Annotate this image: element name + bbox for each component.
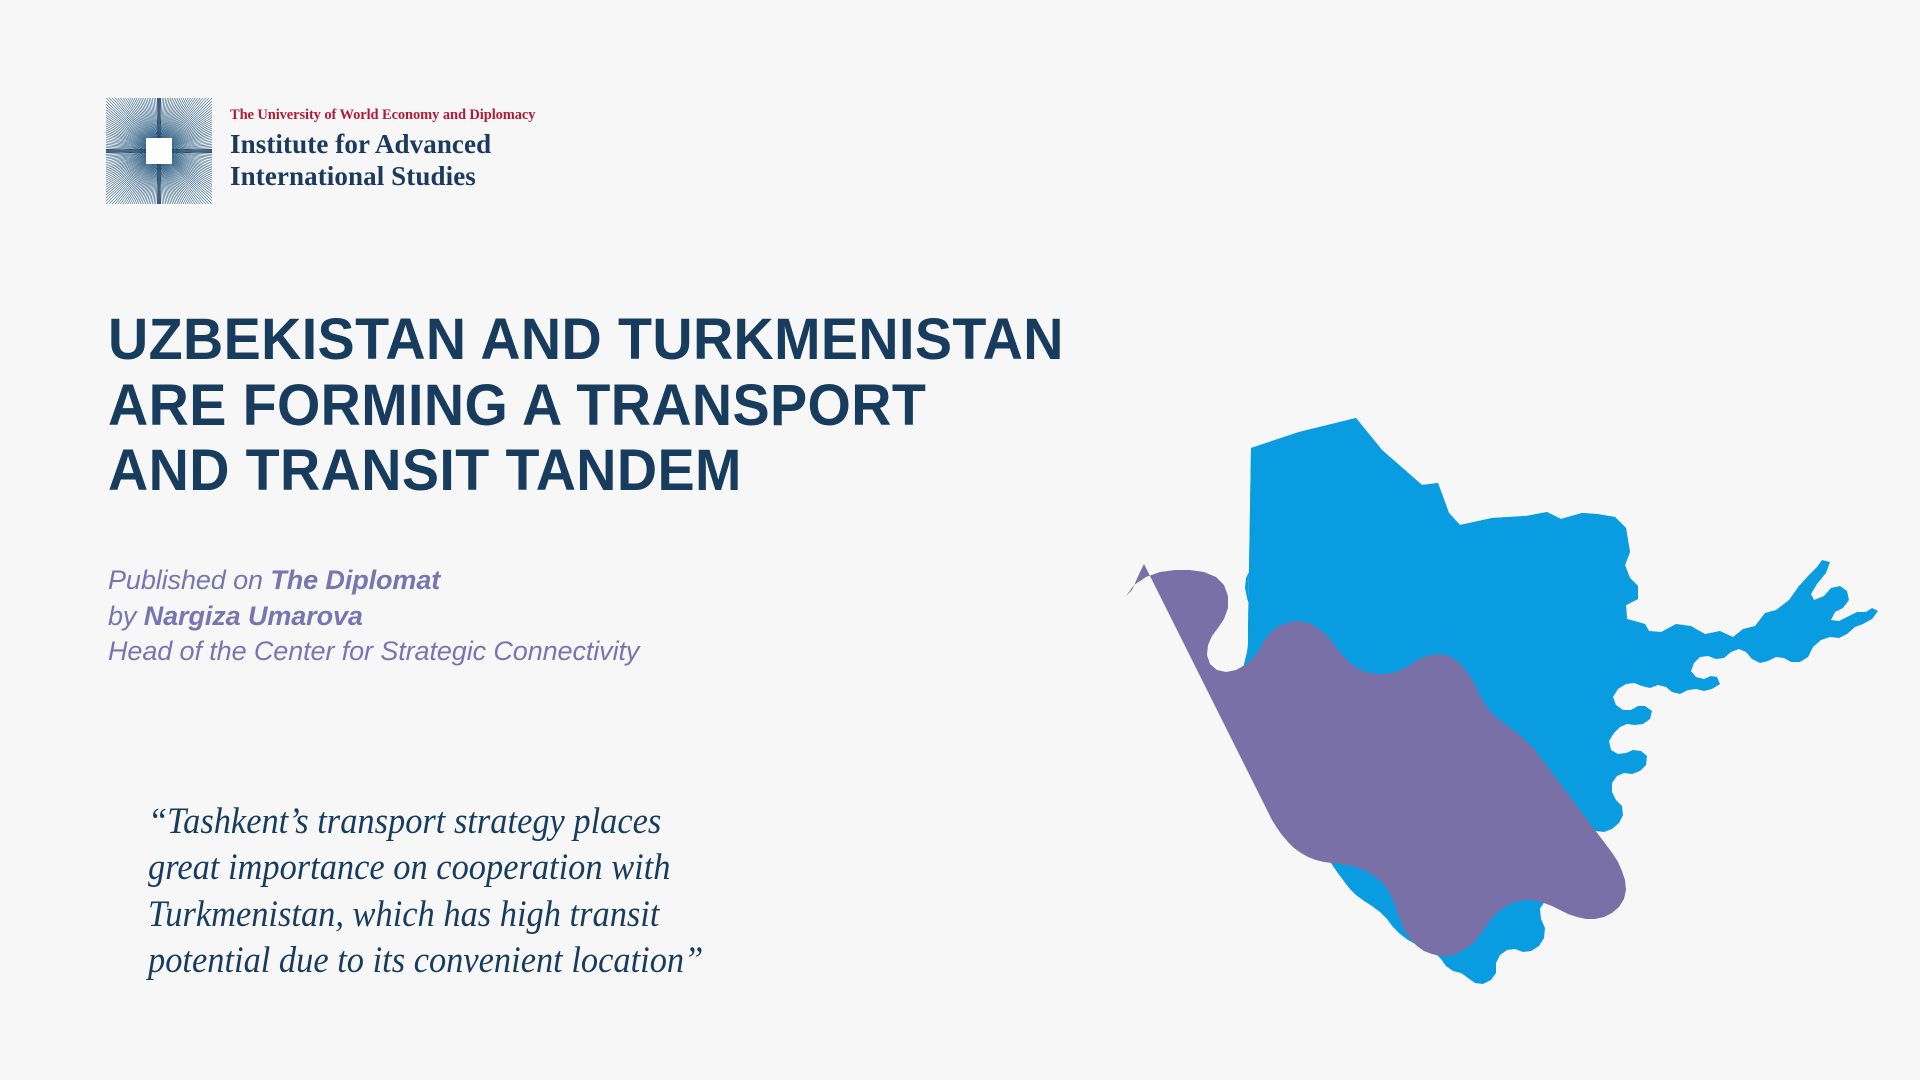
map-uzbekistan-turkmenistan — [1060, 400, 1920, 1050]
institute-logo: The University of World Economy and Dipl… — [106, 98, 535, 204]
quote-line-4: potential due to its convenient location… — [148, 938, 818, 984]
quote-line-1: “Tashkent’s transport strategy places — [148, 799, 818, 845]
headline-line-1: UZBEKISTAN AND TURKMENISTAN — [108, 307, 1260, 373]
byline-author-line: by Nargiza Umarova — [108, 599, 639, 635]
logo-institute-line-2: International Studies — [230, 161, 535, 193]
byline: Published on The Diplomat by Nargiza Uma… — [108, 563, 639, 670]
logo-university-line: The University of World Economy and Dipl… — [230, 108, 535, 124]
radial-burst-logo-icon — [106, 98, 212, 204]
quote-line-2: great importance on cooperation with — [148, 845, 818, 891]
byline-publication-line: Published on The Diplomat — [108, 563, 639, 599]
quote-line-3: Turkmenistan, which has high transit — [148, 892, 818, 938]
byline-published-prefix: Published on — [108, 565, 270, 595]
byline-by-prefix: by — [108, 601, 144, 631]
logo-institute-line-1: Institute for Advanced — [230, 129, 535, 161]
byline-author-role: Head of the Center for Strategic Connect… — [108, 634, 639, 670]
byline-author-name: Nargiza Umarova — [144, 601, 363, 631]
byline-publication-name: The Diplomat — [270, 565, 440, 595]
pull-quote: “Tashkent’s transport strategy places gr… — [148, 799, 868, 984]
